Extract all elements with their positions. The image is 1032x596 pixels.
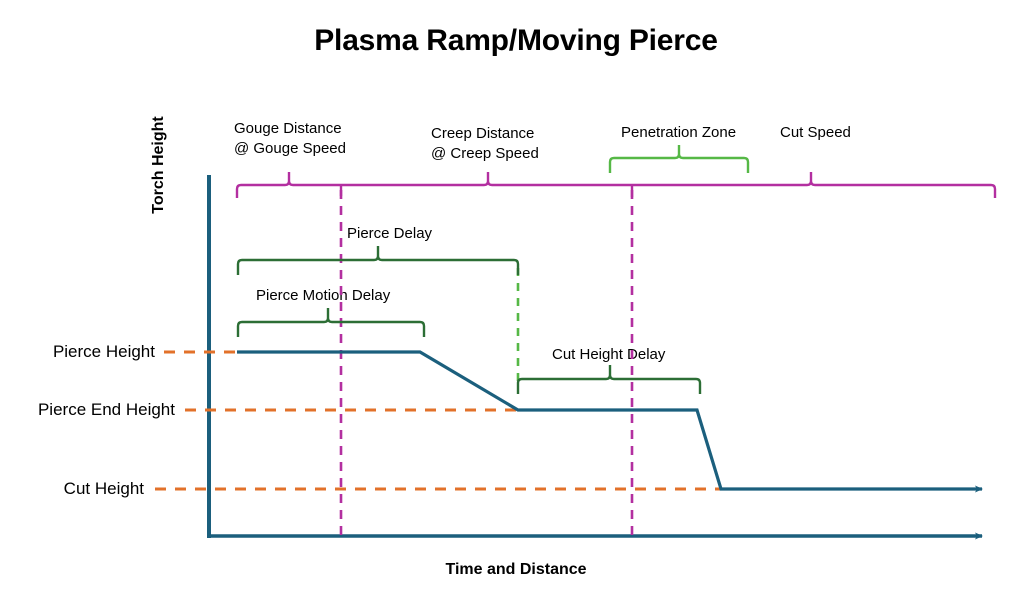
bracket-pierce-delay (238, 246, 518, 275)
bracket-cut-height-delay (518, 365, 700, 394)
diagram-graphics (0, 0, 1032, 596)
bracket-pierce-motion-delay (238, 308, 424, 337)
speed-bracket-magenta (237, 172, 995, 198)
diagram-canvas: Plasma Ramp/Moving Pierce Torch Height T… (0, 0, 1032, 596)
bracket-penetration-zone (610, 145, 748, 173)
